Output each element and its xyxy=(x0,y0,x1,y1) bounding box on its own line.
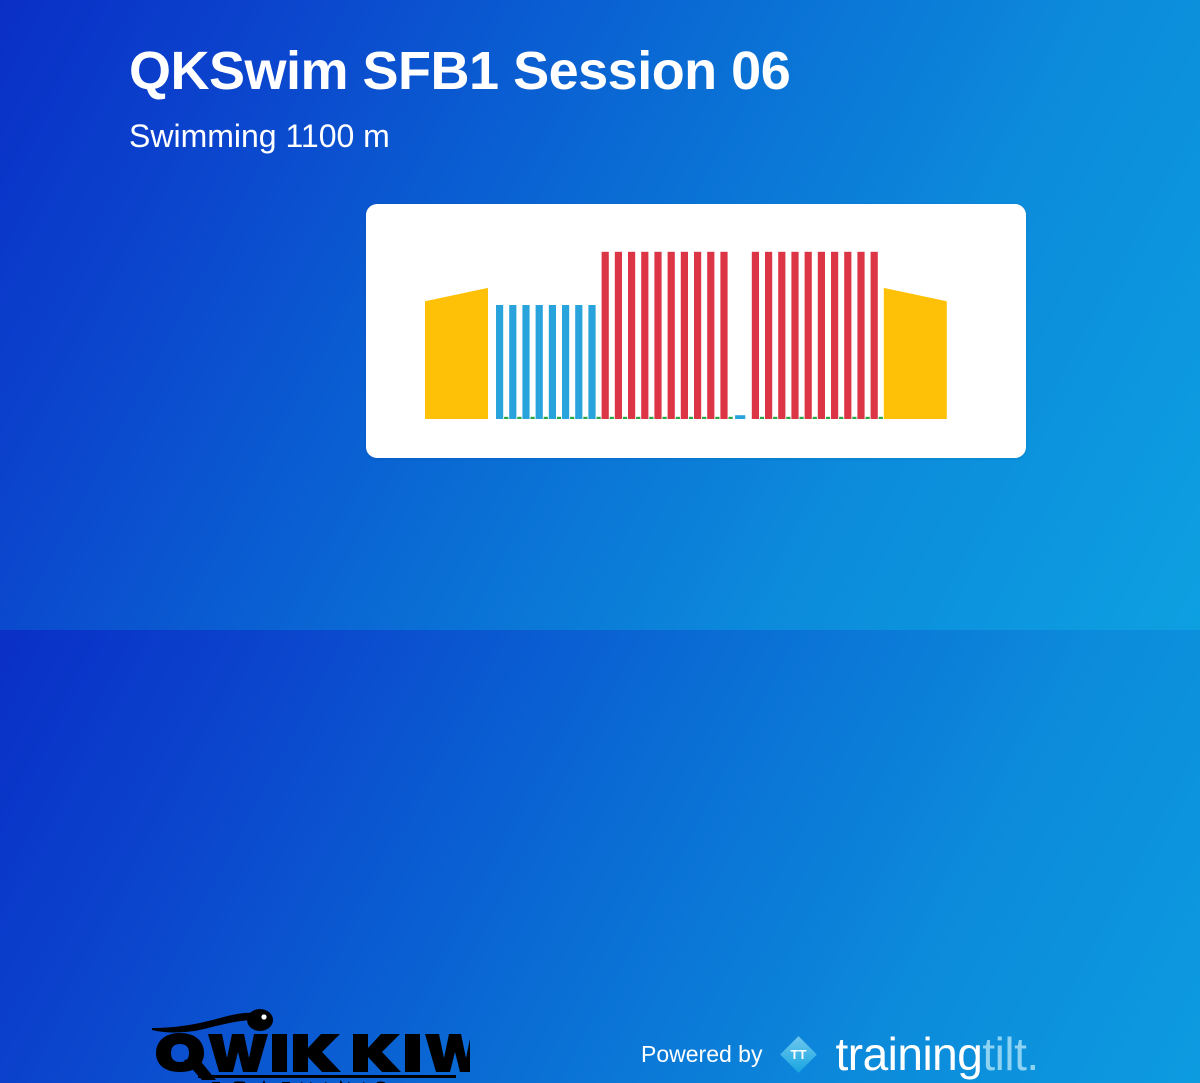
trainingtilt-wordmark: trainingtilt. xyxy=(835,1031,1038,1077)
footer: Powered by TT trainingtilt. xyxy=(0,500,1200,630)
trainingtilt-word-training: training xyxy=(835,1028,982,1080)
page-subtitle: Swimming 1100 m xyxy=(129,120,1029,152)
trainingtilt-word-dot: . xyxy=(1026,1028,1038,1080)
workout-interval-chart xyxy=(366,204,1026,458)
powered-by-trainingtilt: Powered by TT trainingtilt. xyxy=(641,1031,1039,1077)
tt-diamond-graphic: TT xyxy=(776,1032,821,1077)
trainingtilt-diamond-icon: TT xyxy=(776,1032,821,1077)
qwik-kiwi-coaching-logo xyxy=(150,1008,470,1083)
workout-chart-card xyxy=(366,204,1026,458)
svg-text:TT: TT xyxy=(791,1047,807,1062)
chart-canvas xyxy=(366,204,1026,458)
page-title: QKSwim SFB1 Session 06 xyxy=(129,44,1029,98)
header: QKSwim SFB1 Session 06 Swimming 1100 m xyxy=(129,44,1029,152)
trainingtilt-word-tilt: tilt xyxy=(982,1028,1026,1080)
qwik-kiwi-logo-graphic xyxy=(150,1008,470,1083)
powered-by-label: Powered by xyxy=(641,1041,762,1068)
